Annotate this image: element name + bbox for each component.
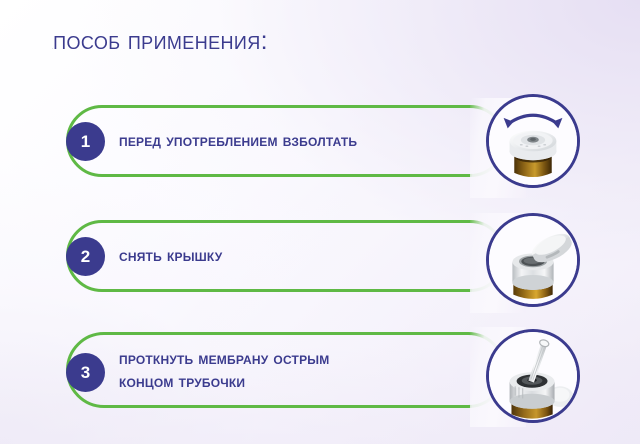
step-label: Перед употреблением взболтать <box>119 98 449 184</box>
step-number-badge: 1 <box>66 122 105 161</box>
step-number-badge: 3 <box>66 353 105 392</box>
bottle-open-cap-icon <box>486 213 580 307</box>
step-label-line-1: Проткнуть мембрану острым <box>119 347 449 370</box>
step-label-line-1: Снять крышку <box>119 244 449 267</box>
step-item-3: 3 Проткнуть мембрану острым концом трубо… <box>0 327 640 427</box>
step-number-badge: 2 <box>66 237 105 276</box>
step-label-line-1: Перед употреблением взболтать <box>119 129 449 152</box>
steps-list: 1 Перед употреблением взболтать <box>0 0 640 444</box>
step-label-line-2: концом трубочки <box>119 370 449 393</box>
step-item-2: 2 Снять крышку <box>0 213 640 313</box>
step-label: Проткнуть мембрану острым концом трубочк… <box>119 327 449 413</box>
bottle-straw-pierce-icon <box>486 329 580 423</box>
bottle-cap-shake-icon <box>486 94 580 188</box>
step-label: Снять крышку <box>119 213 449 299</box>
instruction-poster: Способ применения: 1 Перед употреблением… <box>0 0 640 444</box>
step-item-1: 1 Перед употреблением взболтать <box>0 98 640 198</box>
